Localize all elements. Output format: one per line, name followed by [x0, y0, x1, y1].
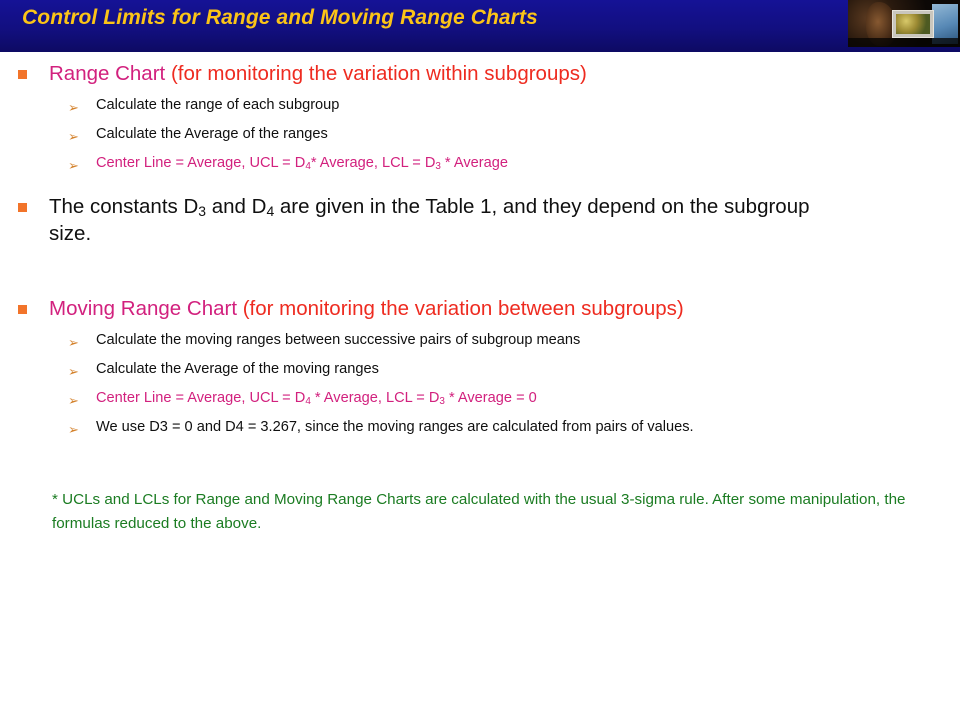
- arrow-bullet-icon: ➢: [68, 157, 82, 175]
- square-bullet-icon: [18, 305, 30, 314]
- bullet-moving-range-chart: Moving Range Chart (for monitoring the v…: [0, 296, 960, 322]
- sub-bullet-range-1: ➢ Calculate the range of each subgroup: [0, 96, 960, 117]
- sub-bullet-moving-2-text: Calculate the Average of the moving rang…: [96, 360, 379, 379]
- moving-range-formula: Center Line = Average, UCL = D4 * Averag…: [96, 389, 537, 409]
- formula-sub-d4: 4: [305, 396, 311, 407]
- arrow-bullet-icon: ➢: [68, 99, 82, 117]
- bullet-range-chart-text: Range Chart (for monitoring the variatio…: [49, 61, 587, 87]
- moving-range-heading: Moving Range Chart: [49, 297, 243, 320]
- formula-part-3: * Average = 0: [445, 390, 537, 406]
- sub-bullet-range-1-text: Calculate the range of each subgroup: [96, 96, 339, 115]
- range-chart-heading: Range Chart: [49, 62, 171, 85]
- header-photo-frame: [892, 10, 934, 38]
- formula-part-3: * Average: [441, 155, 508, 171]
- moving-range-heading-paren: (for monitoring the variation between su…: [243, 297, 684, 320]
- constants-sub-d3: 3: [198, 203, 206, 219]
- bullet-range-chart: Range Chart (for monitoring the variatio…: [0, 61, 960, 87]
- constants-sub-d4: 4: [266, 203, 274, 219]
- formula-sub-d3: 3: [435, 161, 441, 172]
- sub-bullet-moving-2: ➢ Calculate the Average of the moving ra…: [0, 360, 960, 381]
- sub-bullet-moving-formula: ➢ Center Line = Average, UCL = D4 * Aver…: [0, 389, 960, 410]
- range-chart-formula: Center Line = Average, UCL = D4* Average…: [96, 154, 508, 174]
- arrow-bullet-icon: ➢: [68, 334, 82, 352]
- sub-bullet-range-formula: ➢ Center Line = Average, UCL = D4* Avera…: [0, 154, 960, 175]
- header-photo-shadow: [848, 38, 960, 47]
- arrow-bullet-icon: ➢: [68, 128, 82, 146]
- sub-bullet-moving-constants: ➢ We use D3 = 0 and D4 = 3.267, since th…: [0, 418, 960, 439]
- constants-part-1: The constants D: [49, 195, 198, 218]
- square-bullet-icon: [18, 203, 30, 212]
- formula-sub-d3: 3: [439, 396, 445, 407]
- range-chart-heading-paren: (for monitoring the variation within sub…: [171, 62, 587, 85]
- formula-part-1: Center Line = Average, UCL = D: [96, 155, 305, 171]
- sub-bullet-range-2-text: Calculate the Average of the ranges: [96, 125, 328, 144]
- formula-part-2: * Average, LCL = D: [311, 390, 440, 406]
- bullet-moving-range-chart-text: Moving Range Chart (for monitoring the v…: [49, 296, 684, 322]
- bullet-constants-text: The constants D3 and D4 are given in the…: [49, 194, 839, 247]
- formula-part-2: * Average, LCL = D: [311, 155, 436, 171]
- bullet-constants: The constants D3 and D4 are given in the…: [0, 194, 960, 247]
- footnote-text: * UCLs and LCLs for Range and Moving Ran…: [0, 488, 960, 536]
- slide-content: Range Chart (for monitoring the variatio…: [0, 52, 960, 720]
- sub-bullet-moving-1-text: Calculate the moving ranges between succ…: [96, 331, 580, 350]
- arrow-bullet-icon: ➢: [68, 392, 82, 410]
- sub-bullet-range-2: ➢ Calculate the Average of the ranges: [0, 125, 960, 146]
- header-photo: [848, 0, 960, 47]
- page-title: Control Limits for Range and Moving Rang…: [22, 6, 538, 30]
- sub-bullet-moving-constants-text: We use D3 = 0 and D4 = 3.267, since the …: [96, 418, 694, 437]
- square-bullet-icon: [18, 70, 30, 79]
- arrow-bullet-icon: ➢: [68, 421, 82, 439]
- constants-part-2: and D: [206, 195, 266, 218]
- sub-bullet-moving-1: ➢ Calculate the moving ranges between su…: [0, 331, 960, 352]
- formula-part-1: Center Line = Average, UCL = D: [96, 390, 305, 406]
- header-photo-frame-image: [896, 14, 930, 34]
- formula-sub-d4: 4: [305, 161, 311, 172]
- slide-title-bar: Control Limits for Range and Moving Rang…: [0, 0, 960, 52]
- arrow-bullet-icon: ➢: [68, 363, 82, 381]
